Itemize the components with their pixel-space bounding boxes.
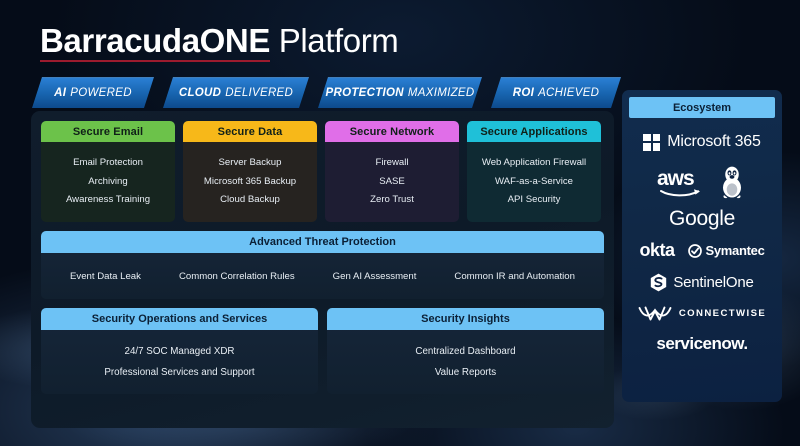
security-operations-panel[interactable]: Security Operations and Services 24/7 SO… (41, 308, 318, 394)
symantec-label: Symantec (705, 243, 764, 258)
list-item[interactable]: Common IR and Automation (454, 271, 575, 282)
logo-row-microsoft: Microsoft 365 (629, 133, 775, 151)
page-title: BarracudaONE Platform (40, 22, 398, 60)
google-logo[interactable]: Google (669, 207, 735, 231)
list-item[interactable]: WAF-as-a-Service (495, 177, 573, 188)
list-item[interactable]: Centralized Dashboard (415, 346, 515, 357)
connectwise-mark-icon (638, 305, 672, 322)
microsoft-squares-icon (643, 134, 660, 151)
aws-logo[interactable]: aws (657, 169, 703, 195)
logo-row-okta-symantec: okta Symantec (629, 240, 775, 261)
advanced-threat-protection-panel[interactable]: Advanced Threat Protection Event Data Le… (41, 231, 604, 299)
logo-row-servicenow: servicenow. (629, 334, 775, 354)
advanced-threat-protection-header: Advanced Threat Protection (41, 231, 604, 253)
symantec-logo[interactable]: Symantec (688, 243, 764, 258)
pillar-secure-applications-header: Secure Applications (467, 121, 601, 142)
ecosystem-panel: Ecosystem Microsoft 365 aws (622, 90, 782, 402)
banner-protection-maximized[interactable]: PROTECTIONMAXIMIZED (318, 77, 482, 108)
logo-row-sentinelone: SentinelOne (629, 273, 775, 292)
banner-ai-powered-rest: POWERED (70, 87, 132, 99)
security-insights-header: Security Insights (327, 308, 604, 330)
security-operations-header: Security Operations and Services (41, 308, 318, 330)
aws-label: aws (657, 169, 703, 189)
microsoft-365-label: Microsoft 365 (667, 133, 760, 151)
sentinelone-hexagon-icon (650, 273, 667, 292)
servicenow-logo[interactable]: servicenow. (656, 334, 747, 354)
list-item[interactable]: Common Correlation Rules (179, 271, 295, 282)
list-item[interactable]: Microsoft 365 Backup (204, 177, 296, 188)
bottom-panel-row: Security Operations and Services 24/7 SO… (41, 308, 604, 394)
list-item[interactable]: Email Protection (73, 158, 143, 169)
pillar-column-row: Secure Email Email Protection Archiving … (41, 121, 604, 222)
advanced-threat-protection-body: Event Data Leak Common Correlation Rules… (41, 253, 604, 299)
list-item[interactable]: Archiving (88, 177, 127, 188)
pillar-secure-network-header: Secure Network (325, 121, 459, 142)
list-item[interactable]: Professional Services and Support (104, 367, 254, 378)
symantec-check-circle-icon (688, 244, 702, 258)
logo-row-aws-linux: aws (629, 165, 775, 199)
connectwise-label: CONNECTWISE (679, 308, 766, 319)
banner-roi-achieved[interactable]: ROIACHIEVED (491, 77, 621, 108)
banner-roi-achieved-rest: ACHIEVED (538, 87, 599, 99)
microsoft-365-logo[interactable]: Microsoft 365 (643, 133, 760, 151)
list-item[interactable]: Web Application Firewall (482, 158, 586, 169)
security-insights-body: Centralized Dashboard Value Reports (327, 330, 604, 394)
pillar-secure-applications-body: Web Application Firewall WAF-as-a-Servic… (467, 142, 601, 222)
pillar-secure-applications[interactable]: Secure Applications Web Application Fire… (467, 121, 601, 222)
security-operations-body: 24/7 SOC Managed XDR Professional Servic… (41, 330, 318, 394)
pillar-secure-email[interactable]: Secure Email Email Protection Archiving … (41, 121, 175, 222)
banner-ai-powered[interactable]: AIPOWERED (32, 77, 154, 108)
banner-protection-maximized-bold: PROTECTION (326, 87, 404, 99)
platform-main-panel: Secure Email Email Protection Archiving … (31, 111, 614, 428)
slide-canvas: BarracudaONE Platform AIPOWERED CLOUDDEL… (0, 0, 800, 446)
logo-row-google: Google (629, 207, 775, 231)
page-title-suffix: Platform (270, 22, 398, 59)
banner-cloud-delivered[interactable]: CLOUDDELIVERED (163, 77, 309, 108)
list-item[interactable]: Firewall (375, 158, 408, 169)
banner-roi-achieved-bold: ROI (513, 87, 534, 99)
list-item[interactable]: Event Data Leak (70, 271, 141, 282)
okta-logo[interactable]: okta (639, 240, 674, 261)
banner-protection-maximized-rest: MAXIMIZED (408, 87, 475, 99)
pillar-secure-network-body: Firewall SASE Zero Trust (325, 142, 459, 222)
pillar-secure-email-header: Secure Email (41, 121, 175, 142)
sentinelone-logo[interactable]: SentinelOne (650, 273, 753, 292)
page-title-brand: BarracudaONE (40, 22, 270, 62)
list-item[interactable]: Cloud Backup (220, 195, 280, 206)
aws-swoosh-icon (660, 188, 702, 197)
list-item[interactable]: Server Backup (219, 158, 282, 169)
linux-tux-logo[interactable] (717, 165, 747, 199)
ecosystem-header: Ecosystem (629, 97, 775, 118)
pillar-secure-data[interactable]: Secure Data Server Backup Microsoft 365 … (183, 121, 317, 222)
list-item[interactable]: 24/7 SOC Managed XDR (125, 346, 235, 357)
logo-row-connectwise: CONNECTWISE (629, 305, 775, 322)
pillar-secure-network[interactable]: Secure Network Firewall SASE Zero Trust (325, 121, 459, 222)
banner-cloud-delivered-bold: CLOUD (179, 87, 221, 99)
list-item[interactable]: Zero Trust (370, 195, 414, 206)
list-item[interactable]: API Security (508, 195, 561, 206)
value-prop-banner-row: AIPOWERED CLOUDDELIVERED PROTECTIONMAXIM… (32, 77, 621, 108)
pillar-secure-data-header: Secure Data (183, 121, 317, 142)
list-item[interactable]: Value Reports (435, 367, 496, 378)
security-insights-panel[interactable]: Security Insights Centralized Dashboard … (327, 308, 604, 394)
connectwise-logo[interactable]: CONNECTWISE (638, 305, 766, 322)
pillar-secure-email-body: Email Protection Archiving Awareness Tra… (41, 142, 175, 222)
banner-ai-powered-bold: AI (54, 87, 66, 99)
pillar-secure-data-body: Server Backup Microsoft 365 Backup Cloud… (183, 142, 317, 222)
list-item[interactable]: Awareness Training (66, 195, 150, 206)
sentinelone-label: SentinelOne (673, 274, 753, 291)
banner-cloud-delivered-rest: DELIVERED (225, 87, 293, 99)
list-item[interactable]: Gen AI Assessment (333, 271, 417, 282)
ecosystem-logo-list: Microsoft 365 aws (629, 118, 775, 398)
list-item[interactable]: SASE (379, 177, 405, 188)
